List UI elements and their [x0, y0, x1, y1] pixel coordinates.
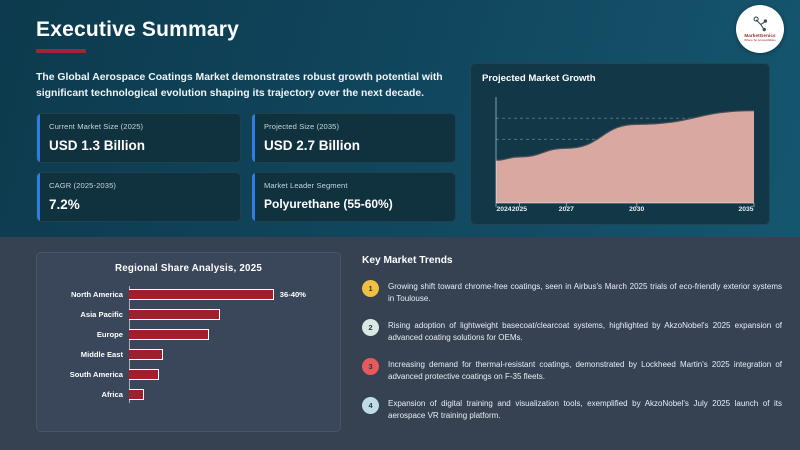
key-trends-panel: Key Market Trends 1Growing shift toward … [362, 255, 782, 422]
bar-category-label: Europe [49, 330, 129, 339]
bar-row: Middle East [49, 346, 328, 363]
area-x-tick-label: 2035 [738, 206, 753, 213]
bar-row: Europe [49, 326, 328, 343]
bar-category-label: South America [49, 370, 129, 379]
metric-value: 7.2% [49, 197, 230, 212]
title-underline [36, 49, 86, 53]
bar-category-label: Middle East [49, 350, 129, 359]
bar-track: 36-40% [129, 286, 328, 303]
trend-number-badge: 4 [362, 397, 379, 414]
metric-card: Market Leader Segment Polyurethane (55-6… [251, 172, 456, 222]
bar-category-label: North America [49, 290, 129, 299]
trend-number-badge: 3 [362, 358, 379, 375]
bar-track [129, 386, 328, 403]
bar-row: Asia Pacific [49, 306, 328, 323]
regional-bars: North America36-40%Asia PacificEuropeMid… [49, 286, 328, 403]
trend-number-badge: 1 [362, 280, 379, 297]
trend-text: Rising adoption of lightweight basecoat/… [388, 319, 782, 344]
bar-track [129, 306, 328, 323]
regional-chart-panel: Regional Share Analysis, 2025 North Amer… [36, 252, 341, 432]
growth-chart-panel: Projected Market Growth 2024202520272030… [470, 63, 770, 225]
bar-fill [129, 369, 159, 380]
bar-fill [129, 309, 220, 320]
area-x-tick-label: 2025 [512, 206, 527, 213]
bar-fill [129, 349, 163, 360]
brand-logo: MarketGenics Where So Accessibilities [736, 5, 784, 53]
page-title: Executive Summary [36, 18, 239, 42]
logo-tagline: Where So Accessibilities [744, 39, 776, 42]
bar-fill [129, 329, 209, 340]
metric-label: Market Leader Segment [264, 181, 445, 190]
bar-track [129, 326, 328, 343]
bar-track [129, 366, 328, 383]
metric-card: Current Market Size (2025) USD 1.3 Billi… [36, 113, 241, 163]
trend-text: Growing shift toward chrome-free coating… [388, 280, 782, 305]
molecule-icon [750, 16, 770, 33]
trend-list: 1Growing shift toward chrome-free coatin… [362, 280, 782, 422]
growth-chart-plot: 20242025202720302035 [482, 91, 760, 217]
growth-chart-title: Projected Market Growth [482, 73, 758, 84]
area-x-tick-label: 2024 [496, 206, 511, 213]
metric-value: USD 2.7 Billion [264, 138, 445, 153]
metric-card: Projected Size (2035) USD 2.7 Billion [251, 113, 456, 163]
bar-category-label: Africa [49, 390, 129, 399]
metric-label: Projected Size (2035) [264, 122, 445, 131]
trend-item: 2Rising adoption of lightweight basecoat… [362, 319, 782, 344]
trend-number-badge: 2 [362, 319, 379, 336]
bar-row: Africa [49, 386, 328, 403]
metric-cards: Current Market Size (2025) USD 1.3 Billi… [36, 113, 456, 222]
bar-row: North America36-40% [49, 286, 328, 303]
area-x-tick-label: 2027 [559, 206, 574, 213]
trend-text: Increasing demand for thermal-resistant … [388, 358, 782, 383]
key-trends-title: Key Market Trends [362, 255, 782, 266]
header: Executive Summary [36, 18, 239, 53]
bar-fill [129, 389, 144, 400]
bar-row: South America [49, 366, 328, 383]
metric-label: Current Market Size (2025) [49, 122, 230, 131]
bar-fill [129, 289, 274, 300]
area-x-tick-label: 2030 [629, 206, 644, 213]
metric-value: Polyurethane (55-60%) [264, 197, 445, 211]
regional-chart-title: Regional Share Analysis, 2025 [49, 263, 328, 274]
bar-category-label: Asia Pacific [49, 310, 129, 319]
bar-value-label: 36-40% [280, 290, 306, 299]
trend-item: 3Increasing demand for thermal-resistant… [362, 358, 782, 383]
trend-text: Expansion of digital training and visual… [388, 397, 782, 422]
metric-value: USD 1.3 Billion [49, 138, 230, 153]
area-chart-x-axis: 20242025202720302035 [482, 206, 760, 218]
summary-subtitle: The Global Aerospace Coatings Market dem… [36, 70, 456, 102]
bar-track [129, 346, 328, 363]
metric-label: CAGR (2025-2035) [49, 181, 230, 190]
metric-card: CAGR (2025-2035) 7.2% [36, 172, 241, 222]
trend-item: 4Expansion of digital training and visua… [362, 397, 782, 422]
trend-item: 1Growing shift toward chrome-free coatin… [362, 280, 782, 305]
area-chart-svg [482, 91, 760, 217]
